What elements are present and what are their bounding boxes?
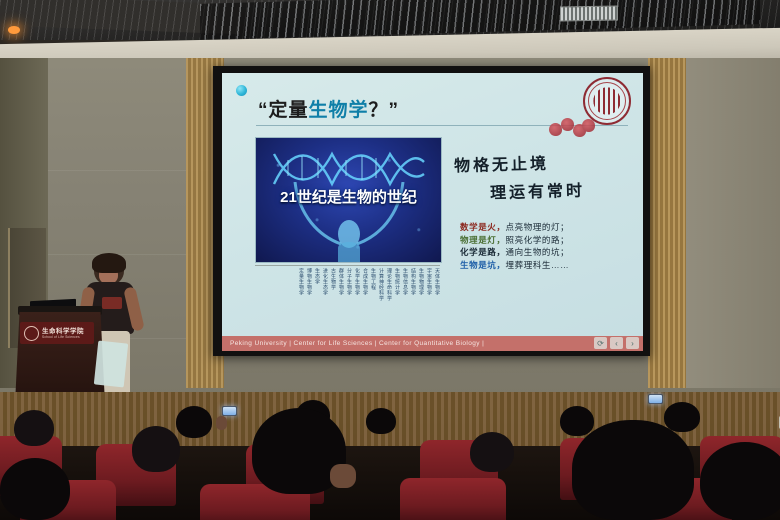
projection-screen: “定量生物学？” [222, 73, 643, 351]
hand [330, 464, 356, 488]
slide-navigation[interactable]: ⟳ ‹ › [594, 337, 639, 349]
discipline-item: 进化生态学 [322, 268, 328, 326]
audience-head [132, 426, 180, 472]
dna-helix-illustration: 21世纪是生物的世纪 [255, 137, 442, 263]
poem-rest: 埋葬理科生…… [506, 260, 570, 270]
poem-rest: 通向生物的坑； [506, 247, 570, 257]
slide-footer-text: Peking University | Center for Life Scie… [230, 340, 484, 347]
tshirt-graphic [102, 297, 122, 309]
discipline-item: 合成生物学 [362, 268, 368, 326]
wood-slat-panel-right [648, 58, 686, 388]
discipline-item: 计算神经科学 [378, 268, 384, 326]
slide-title: “定量生物学？” [258, 95, 399, 122]
poem-key: 物理是灯， [460, 235, 506, 245]
poem-rest: 点亮物理的灯； [506, 222, 570, 232]
dna-image-caption: 21世纪是生物的世纪 [256, 186, 441, 207]
discipline-list: 天体生物学 宇宙生物学 生物物理学 结构生物学 生物信息学 生物统计学 理论生命… [255, 265, 440, 326]
poem-line: 数学是火，点亮物理的灯； [460, 221, 569, 234]
poem-block: 数学是火，点亮物理的灯； 物理是灯，照亮化学的路； 化学是路，通向生物的坑； 生… [460, 221, 569, 271]
podium-label-en: School of Life Sciences [42, 335, 84, 339]
discipline-item: 定量生物学 [298, 268, 304, 326]
discipline-item: 博物生物学 [306, 268, 312, 326]
paper-sheet [94, 341, 128, 388]
audience-head-foreground [0, 458, 70, 520]
presentation-slide: “定量生物学？” [222, 73, 643, 351]
poem-key: 生物是坑， [460, 260, 506, 270]
audience-head-foreground [700, 442, 780, 520]
discipline-item: 生物统计学 [394, 268, 400, 326]
discipline-item: 生物物理学 [418, 268, 424, 326]
poem-key: 数学是火， [460, 222, 506, 232]
lecture-hall-photo: “定量生物学？” [0, 0, 780, 520]
discipline-item: 生物工程 [370, 268, 376, 326]
discipline-item: 生态学 [314, 268, 320, 326]
ceiling-vent-icon [560, 5, 618, 21]
discipline-item: 群体生物学 [338, 268, 344, 326]
audience-head [470, 432, 514, 472]
right-wall [686, 58, 780, 388]
cyan-dot-icon [236, 85, 247, 96]
discipline-item: 结构生物学 [410, 268, 416, 326]
next-slide-button[interactable]: › [626, 337, 639, 349]
pku-seal-icon [24, 326, 39, 341]
phone-screen [649, 395, 662, 403]
pointer-button[interactable]: ⟳ [594, 337, 607, 349]
audience-head [560, 406, 594, 436]
poem-key: 化学是路， [460, 247, 506, 257]
discipline-item: 古生物学 [330, 268, 336, 326]
discipline-item: 化学生物学 [354, 268, 360, 326]
discipline-item: 宇宙生物学 [426, 268, 432, 326]
discipline-item: 分子生物学 [346, 268, 352, 326]
slide-footer-bar: Peking University | Center for Life Scie… [222, 336, 643, 351]
ceiling-spotlight [8, 26, 20, 34]
poem-rest: 照亮化学的路； [506, 235, 570, 245]
calligraphy-line-1: 物格无止境 [454, 150, 550, 176]
audience-head [366, 408, 396, 434]
slide-title-text: “定量生物学？” [258, 100, 399, 121]
previous-slide-button[interactable]: ‹ [610, 337, 623, 349]
poem-line: 生物是坑，埋葬理科生…… [460, 259, 569, 272]
audience-head [176, 406, 212, 438]
phone-screen [223, 407, 236, 415]
discipline-item: 天体生物学 [434, 268, 440, 326]
calligraphy-line-2: 理运有常时 [490, 177, 586, 203]
poem-line: 化学是路，通向生物的坑； [460, 246, 569, 259]
podium-nameplate: 生命科学学院 School of Life Sciences [20, 322, 94, 344]
speaker-hair [92, 253, 126, 273]
podium-label-cn: 生命科学学院 [42, 328, 84, 335]
audience-head [14, 410, 54, 446]
audience-area [0, 392, 780, 520]
discipline-item: 生物信息学 [402, 268, 408, 326]
red-seal-stamp-icon [549, 117, 595, 139]
audience-head [664, 402, 700, 432]
discipline-item: 理论生命科学 [386, 268, 392, 326]
seat [400, 478, 506, 520]
raised-hand [216, 416, 227, 430]
audience-head-foreground [572, 420, 694, 520]
poem-line: 物理是灯，照亮化学的路； [460, 234, 569, 247]
